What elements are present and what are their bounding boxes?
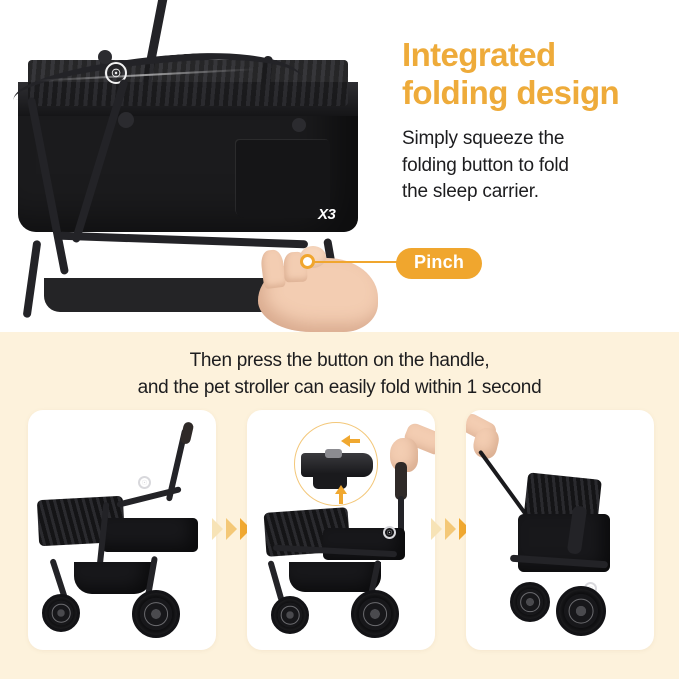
front-wheel [271,596,309,634]
lower-basket [74,562,152,594]
frame-joint-3 [98,50,112,64]
arrow-up-icon [335,485,347,494]
handle-button-inset [294,422,378,506]
hub-badge-icon: ☉ [383,526,396,539]
storage-basket [44,278,294,312]
steps-caption: Then press the button on the handle, and… [0,348,679,402]
rear-wheel [132,590,180,638]
headline-line-2: folding design [402,74,672,112]
frame-joint-2 [292,118,306,132]
step-panel-3: ☉ [466,410,654,650]
chevron-icon [431,518,442,540]
hero-section: ☉ X3 Pinch Integrated folding design [0,0,679,332]
chevron-icon [445,518,456,540]
infographic-page: ☉ X3 Pinch Integrated folding design [0,0,679,679]
hub-badge-icon: ☉ [138,476,151,489]
arrow-left-icon [341,435,350,447]
chevron-icon [212,518,223,540]
rear-wheel [351,590,399,638]
frame-leg-left [23,240,42,318]
handle-release-button [325,449,342,458]
push-handle-grip [180,421,195,445]
carrier-front-pocket [236,140,330,218]
headline-line-1: Integrated [402,36,672,74]
front-wheel [42,594,80,632]
rear-wheel [556,586,606,636]
front-wheel [510,582,550,622]
step-panel-1: ☉ [28,410,216,650]
callout-line [314,261,398,263]
subcopy-line-2: folding button to fold [402,153,672,180]
finger-1 [260,249,286,289]
hero-copy: Integrated folding design Simply squeeze… [402,36,672,206]
folding-button-marker [300,254,315,269]
chevron-icon [226,518,237,540]
caption-line-1: Then press the button on the handle, [0,348,679,375]
hero-subcopy: Simply squeeze the folding button to fol… [402,126,672,207]
front-leg [267,560,284,602]
frame-joint-1 [118,112,134,128]
steps-section: Then press the button on the handle, and… [0,332,679,679]
flow-arrow-2 [431,518,470,540]
telescoping-handle-grip [395,462,407,500]
lower-basket [289,562,381,592]
model-label: X3 [318,206,335,223]
product-photo-stroller-carrier: ☉ X3 [0,0,400,332]
step-panels: ☉ [0,410,679,650]
pinch-badge: Pinch [396,248,482,279]
frame-crossbar [58,232,308,249]
subcopy-line-3: the sleep carrier. [402,179,672,206]
headline: Integrated folding design [402,36,672,113]
caption-line-2: and the pet stroller can easily fold wit… [0,375,679,402]
step-panel-2: ☉ [247,410,435,650]
folded-seat [102,518,198,552]
flow-arrow-1 [212,518,251,540]
subcopy-line-1: Simply squeeze the [402,126,672,153]
